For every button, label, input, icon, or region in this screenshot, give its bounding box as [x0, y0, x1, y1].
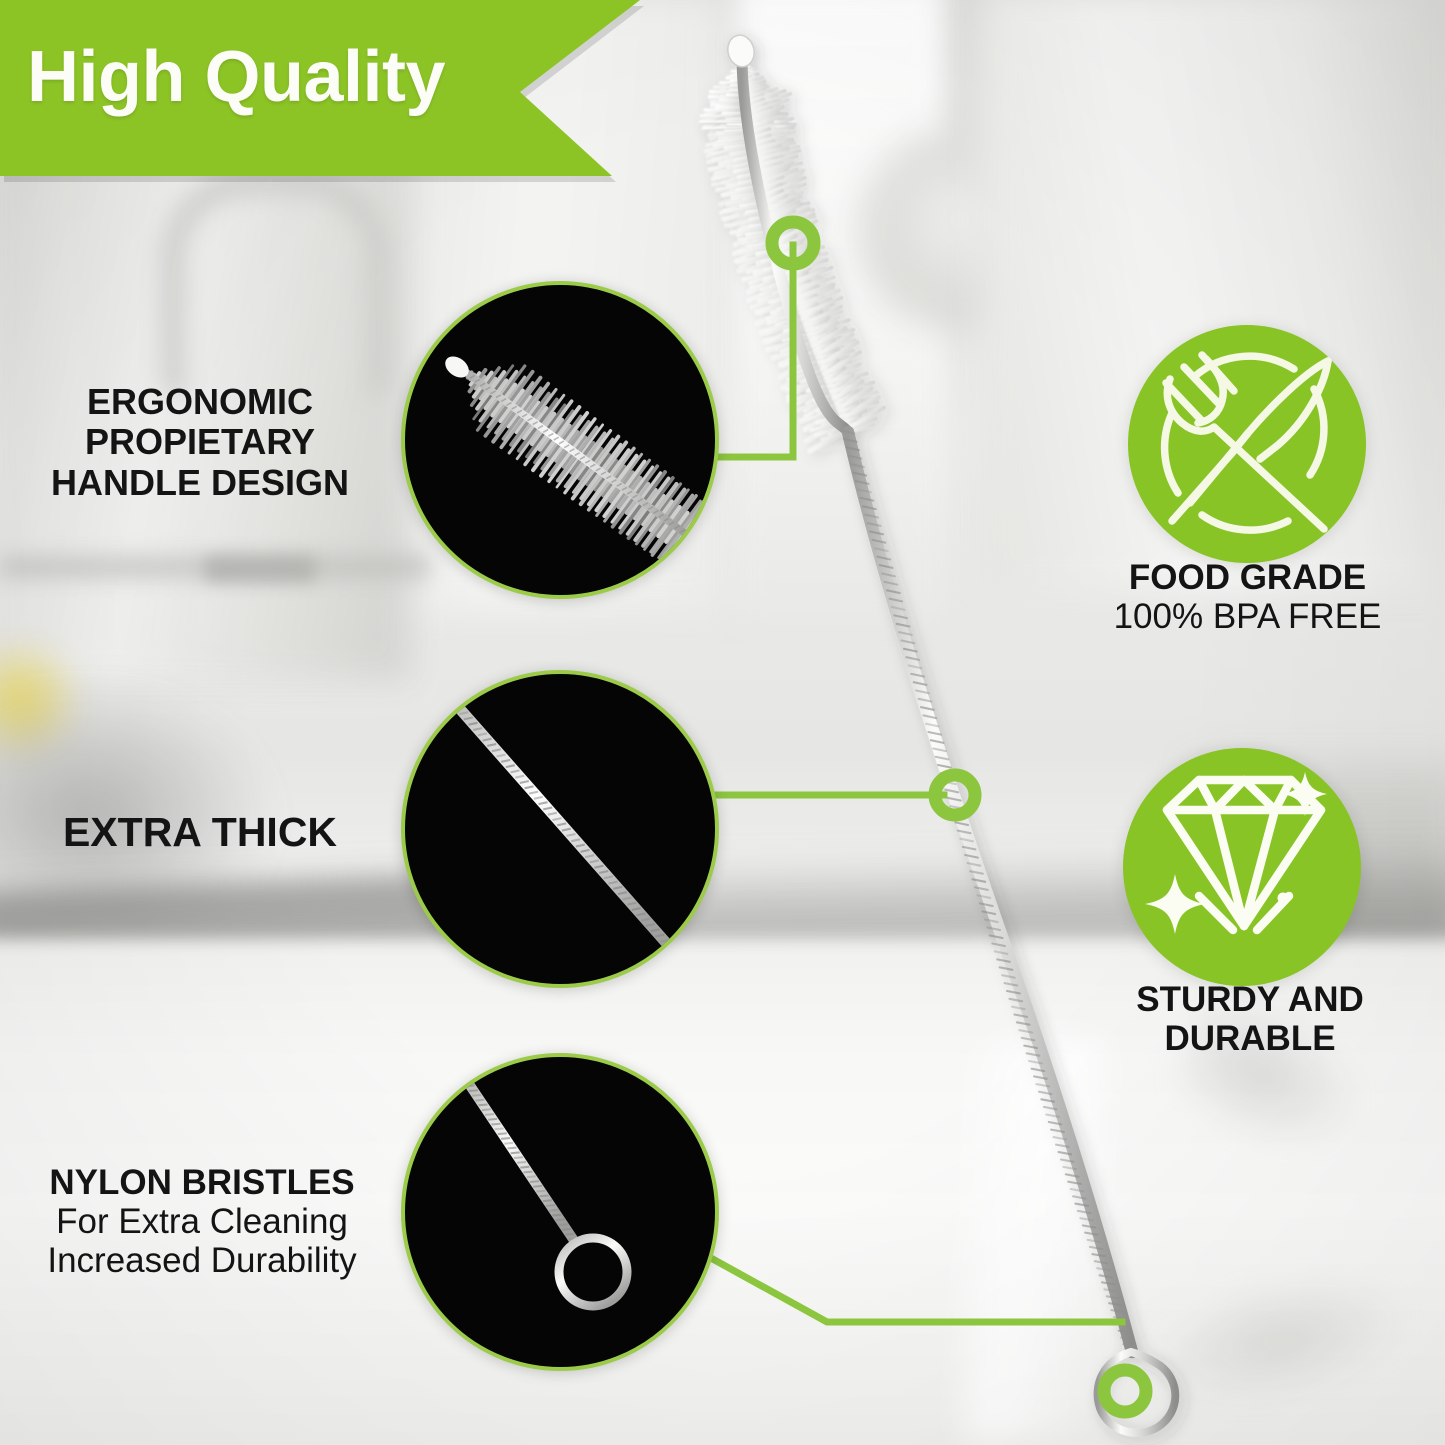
feature-label-ergonomic-handle: ERGONOMIC PROPIETARY HANDLE DESIGN	[30, 382, 370, 503]
sturdy-durable-icon-circle	[1123, 748, 1361, 986]
label-line: PROPIETARY	[30, 422, 370, 462]
detail-photo-twisted-wire	[401, 670, 719, 988]
label-line: ERGONOMIC	[30, 382, 370, 422]
label-line: Increased Durability	[22, 1241, 382, 1280]
label-line: For Extra Cleaning	[22, 1202, 382, 1241]
label-subtitle: 100% BPA FREE	[1090, 597, 1405, 636]
label-line: NYLON BRISTLES	[22, 1163, 382, 1202]
feature-label-nylon-bristles: NYLON BRISTLES For Extra Cleaning Increa…	[22, 1163, 382, 1281]
feature-label-food-grade: FOOD GRADE 100% BPA FREE	[1090, 558, 1405, 636]
label-title: FOOD GRADE	[1090, 558, 1405, 597]
product-feature-infographic: High Quality	[0, 0, 1445, 1445]
label-line: DURABLE	[1100, 1019, 1400, 1058]
twisted-wire-closeup-image	[405, 674, 715, 984]
diamond-sparkle-icon	[1123, 748, 1361, 986]
hanging-loop-closeup-image	[405, 1057, 715, 1367]
feature-label-extra-thick: EXTRA THICK	[25, 810, 375, 856]
detail-photo-brush-head	[401, 281, 719, 599]
plate-fork-knife-icon	[1128, 325, 1366, 563]
feature-label-sturdy-durable: STURDY AND DURABLE	[1100, 980, 1400, 1058]
detail-photo-hanging-loop	[401, 1053, 719, 1371]
brush-head-closeup-image	[405, 285, 715, 595]
label-line: STURDY AND	[1100, 980, 1400, 1019]
label-line: EXTRA THICK	[25, 810, 375, 856]
food-grade-icon-circle	[1128, 325, 1366, 563]
label-line: HANDLE DESIGN	[30, 463, 370, 503]
